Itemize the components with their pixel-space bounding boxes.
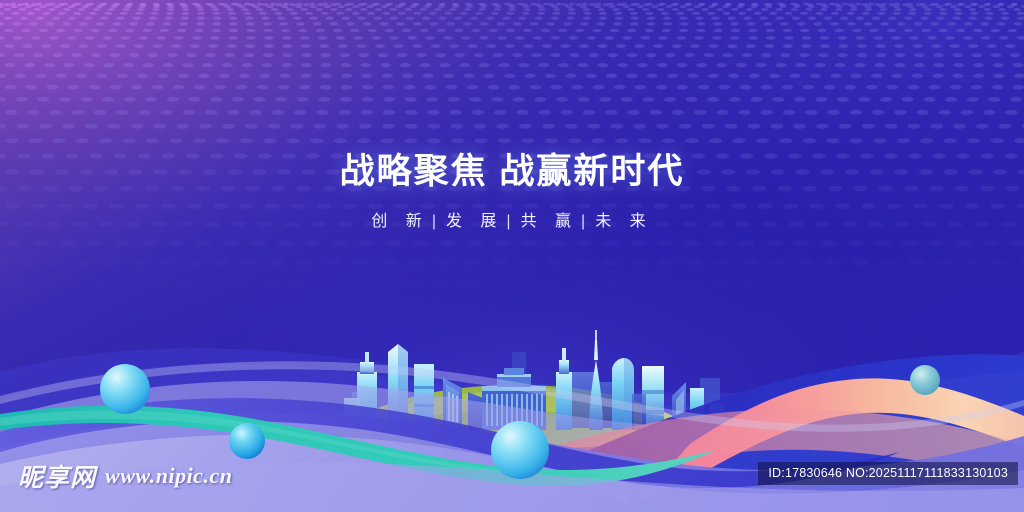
sphere-right [910, 365, 940, 395]
subtitle-item-1: 发 展 [446, 213, 503, 230]
sphere-mid-left [229, 423, 265, 459]
scene-artwork [0, 0, 1024, 512]
subtitle-item-0: 创 新 [371, 213, 428, 230]
sphere-left [100, 364, 150, 414]
subtitle: 创 新|发 展|共 赢|未 来 [0, 207, 1024, 231]
watermark: 昵享网 www.nipic.cn [18, 458, 232, 494]
subtitle-separator: | [503, 213, 520, 230]
subtitle-separator: | [429, 213, 446, 230]
watermark-site-name: 昵享网 [18, 458, 96, 494]
subtitle-separator: | [578, 213, 595, 230]
page-title: 战略聚焦 战赢新时代 [0, 150, 1024, 194]
poster-canvas: 战略聚焦 战赢新时代 创 新|发 展|共 赢|未 来 昵享网 www.nipic… [0, 0, 1024, 512]
headline-block: 战略聚焦 战赢新时代 创 新|发 展|共 赢|未 来 [0, 150, 1024, 231]
watermark-url: www.nipic.cn [105, 463, 232, 489]
subtitle-item-3: 未 来 [595, 213, 652, 230]
id-badge: ID:17830646 NO:20251117111833130103 [758, 462, 1018, 485]
subtitle-item-2: 共 赢 [521, 213, 578, 230]
sphere-center [491, 421, 549, 479]
